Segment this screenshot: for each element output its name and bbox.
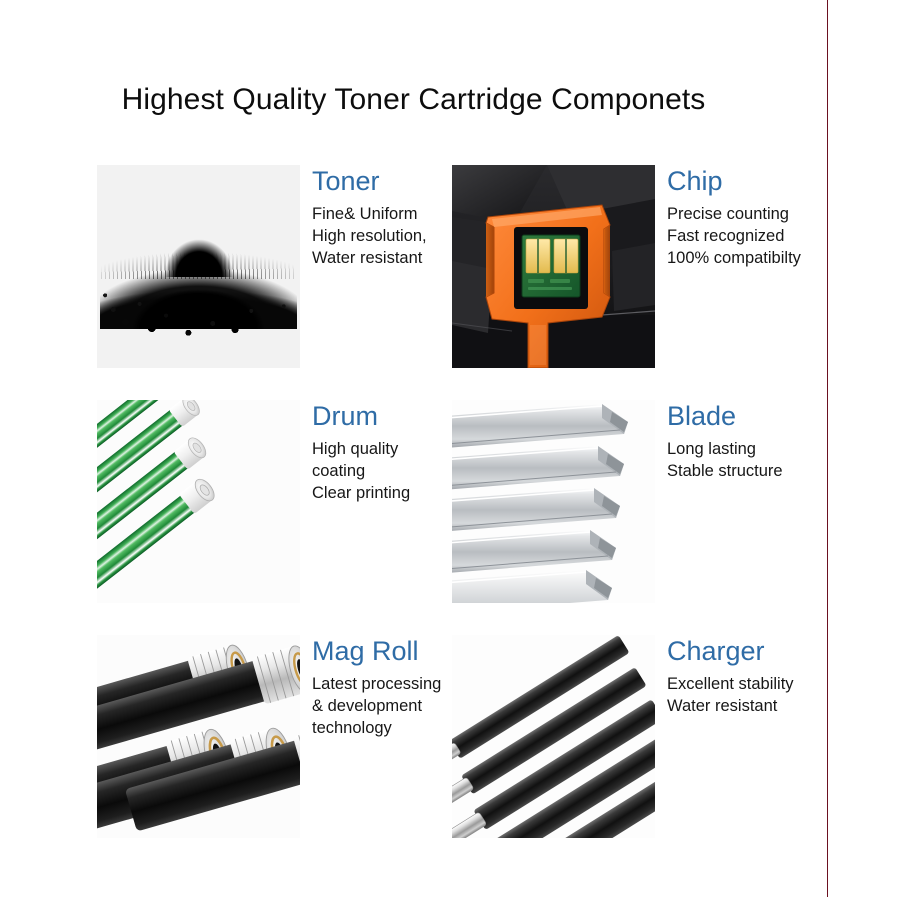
chip-feature-list: Precise counting Fast recognized 100% co… xyxy=(667,204,819,270)
component-grid: Toner Fine& Uniform High resolution, Wat… xyxy=(97,165,819,838)
feature-item: Fine& Uniform xyxy=(312,204,452,226)
mag-roll-copy: Mag Roll Latest processing & development… xyxy=(300,635,452,838)
drum-illustration xyxy=(97,400,300,603)
feature-item: Precise counting xyxy=(667,204,819,226)
chip-copy: Chip Precise counting Fast recognized 10… xyxy=(655,165,819,368)
feature-item: coating xyxy=(312,461,452,483)
mag-roll-heading: Mag Roll xyxy=(312,637,452,665)
feature-item: Fast recognized xyxy=(667,226,819,248)
feature-item: Clear printing xyxy=(312,483,452,505)
charger-image xyxy=(452,635,655,838)
drum-copy: Drum High quality coating Clear printing xyxy=(300,400,452,603)
feature-item: High quality xyxy=(312,439,452,461)
feature-item: 100% compatibilty xyxy=(667,248,819,270)
feature-item: technology xyxy=(312,718,452,740)
feature-item: Water resistant xyxy=(667,696,819,718)
chip-heading: Chip xyxy=(667,167,819,195)
charger-heading: Charger xyxy=(667,637,819,665)
blade-heading: Blade xyxy=(667,402,819,430)
charger-feature-list: Excellent stability Water resistant xyxy=(667,674,819,718)
page-title: Highest Quality Toner Cartridge Componet… xyxy=(0,83,827,117)
blade-feature-list: Long lasting Stable structure xyxy=(667,439,819,483)
feature-item: Stable structure xyxy=(667,461,819,483)
toner-feature-list: Fine& Uniform High resolution, Water res… xyxy=(312,204,452,270)
mag-roll-illustration xyxy=(97,635,300,838)
toner-spray-particles xyxy=(97,261,300,339)
chip-illustration xyxy=(452,165,655,368)
drum-image xyxy=(97,400,300,603)
blade-image xyxy=(452,400,655,603)
infographic-page: Highest Quality Toner Cartridge Componet… xyxy=(0,0,897,897)
charger-illustration xyxy=(452,635,655,838)
right-margin-rule xyxy=(827,0,828,897)
chip-image xyxy=(452,165,655,368)
feature-item: Water resistant xyxy=(312,248,452,270)
blade-illustration xyxy=(452,400,655,603)
toner-heading: Toner xyxy=(312,167,452,195)
feature-item: & development xyxy=(312,696,452,718)
drum-heading: Drum xyxy=(312,402,452,430)
feature-item: Long lasting xyxy=(667,439,819,461)
toner-copy: Toner Fine& Uniform High resolution, Wat… xyxy=(300,165,452,368)
mag-roll-feature-list: Latest processing & development technolo… xyxy=(312,674,452,740)
blade-copy: Blade Long lasting Stable structure xyxy=(655,400,819,603)
feature-item: High resolution, xyxy=(312,226,452,248)
drum-feature-list: High quality coating Clear printing xyxy=(312,439,452,505)
toner-image xyxy=(97,165,300,368)
feature-item: Latest processing xyxy=(312,674,452,696)
feature-item: Excellent stability xyxy=(667,674,819,696)
mag-roll-image xyxy=(97,635,300,838)
charger-copy: Charger Excellent stability Water resist… xyxy=(655,635,819,838)
